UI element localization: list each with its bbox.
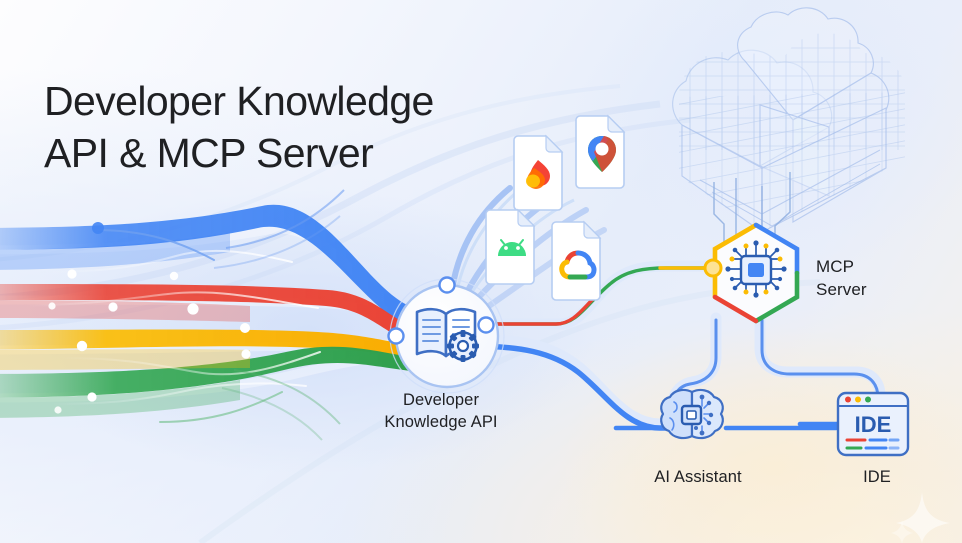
- infographic-canvas: IDE Developer Knowledge API & MCP Server…: [0, 0, 962, 543]
- label-developer-knowledge-api: Developer Knowledge API: [296, 390, 586, 434]
- label-ide: IDE: [812, 468, 942, 487]
- label-mcp-server: MCP Server: [816, 255, 962, 302]
- page-title: Developer Knowledge API & MCP Server: [44, 76, 434, 179]
- label-ai-assistant: AI Assistant: [588, 468, 808, 487]
